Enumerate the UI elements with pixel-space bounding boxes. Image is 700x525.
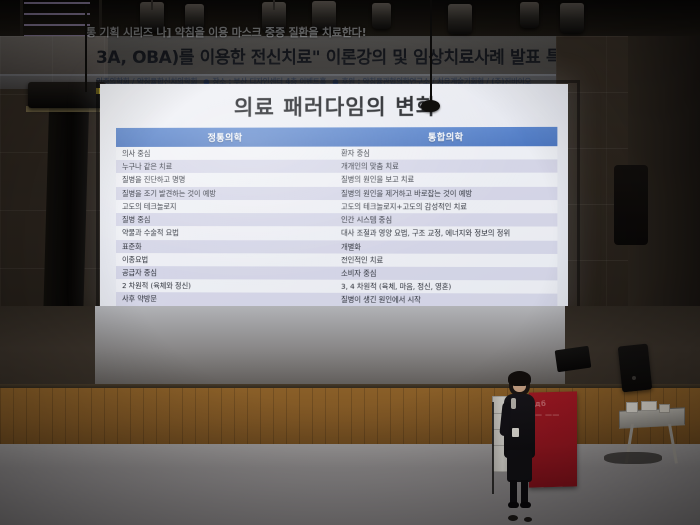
cell-conventional: 질병 중심 xyxy=(116,213,335,226)
presenter-shoe xyxy=(520,502,531,508)
cable-pile xyxy=(604,452,662,464)
cell-integrative: 고도의 테크놀로지+고도의 감성적인 치료 xyxy=(335,200,557,213)
presenter-hair xyxy=(508,371,531,386)
stage-monitor-speaker xyxy=(555,346,592,373)
floor-sheen xyxy=(0,444,700,468)
cell-integrative: 전인적인 치료 xyxy=(335,253,557,267)
hanging-mic-cable xyxy=(430,0,432,104)
presenter-leg xyxy=(510,480,517,504)
cell-integrative: 질병의 원인을 제거하고 바로잡는 것이 예방 xyxy=(335,187,557,200)
cell-conventional: 2 차원적 (육체와 정신) xyxy=(116,279,335,293)
ceiling-cable xyxy=(85,6,87,92)
screen-surface: 의료 패러다임의 변화 정통의학 통합의학 의사 중심환자 중심누구나 같은 치… xyxy=(100,84,568,306)
cell-integrative: 개별화 xyxy=(335,240,557,254)
cell-conventional: 사후 약방문 xyxy=(116,292,335,306)
cell-conventional: 누구나 같은 치료 xyxy=(116,160,335,174)
banner-top-line: 통 기획 시리즈 나] 약침을 이용 마스크 중증 질환을 치료한다! xyxy=(0,24,700,38)
banner-main-title: 3A, OBA)를 이용한 전신치료" 이론강의 및 임상치료사례 발표 특강 xyxy=(0,38,556,72)
hanging-microphone-icon xyxy=(421,100,440,112)
projector xyxy=(28,82,106,108)
table-header-row: 정통의학 통합의학 xyxy=(116,127,557,147)
auditorium-photo: 3A, OBA)를 이용한 전신치료" 이론강의 및 임상치료사례 발표 특강 … xyxy=(0,0,700,525)
presenter-shoe xyxy=(508,502,519,508)
presenter-name-badge xyxy=(512,428,519,437)
table-row: 사후 약방문질병이 생긴 원인에서 시작 xyxy=(116,292,557,306)
table-row: 질병을 조기 발견하는 것이 예방질병의 원인을 제거하고 바로잡는 것이 예방 xyxy=(116,187,557,200)
table-row: 공급자 중심소비자 중심 xyxy=(116,266,557,281)
presentation-slide: 의료 패러다임의 변화 정통의학 통합의학 의사 중심환자 중심누구나 같은 치… xyxy=(100,84,568,306)
cell-conventional: 약물과 수술적 요법 xyxy=(116,226,335,240)
cell-conventional: 질병을 진단하고 명명 xyxy=(116,173,335,186)
handheld-microphone-icon xyxy=(511,398,516,409)
table-row: 의사 중심환자 중심 xyxy=(116,146,557,160)
cell-conventional: 공급자 중심 xyxy=(116,266,335,280)
floor-object xyxy=(508,515,518,521)
cell-integrative: 소비자 중심 xyxy=(335,267,557,281)
table-body: 의사 중심환자 중심누구나 같은 치료개개인의 맞춤 치료질병을 진단하고 명명… xyxy=(116,146,557,306)
table-row: 질병을 진단하고 명명질병의 원인을 보고 치료 xyxy=(116,173,557,187)
presenter-skirt xyxy=(507,450,532,482)
light-yoke xyxy=(151,0,153,10)
cell-integrative: 대사 조절과 영양 요법, 구조 교정, 에너지와 정보의 정위 xyxy=(335,227,557,241)
av-device xyxy=(659,404,670,413)
event-banner: 3A, OBA)를 이용한 전신치료" 이론강의 및 임상치료사례 발표 특강 xyxy=(0,36,556,76)
comparison-table: 정통의학 통합의학 의사 중심환자 중심누구나 같은 치료개개인의 맞춤 치료질… xyxy=(116,127,557,306)
light-yoke xyxy=(273,0,275,10)
cell-integrative: 3, 4 차원적 (육체, 마음, 정신, 영혼) xyxy=(335,280,557,294)
cell-integrative: 환자 중심 xyxy=(335,146,557,160)
presenter-leg xyxy=(521,480,528,504)
table-row: 질병 중심인간 시스템 중심 xyxy=(116,213,557,227)
table-row: 이종요법전인적인 치료 xyxy=(116,253,557,267)
wall-mounted-speaker xyxy=(614,165,648,245)
cell-integrative: 질병이 생긴 원인에서 시작 xyxy=(335,293,557,306)
av-device xyxy=(626,402,638,413)
slide-title: 의료 패러다임의 변화 xyxy=(116,90,557,122)
cell-conventional: 이종요법 xyxy=(116,253,335,267)
av-device xyxy=(641,401,657,411)
stage-wood-paneling xyxy=(0,388,700,444)
floor-object xyxy=(524,517,532,522)
speaker-driver-icon xyxy=(632,376,636,380)
side-speaker xyxy=(618,344,653,393)
cell-conventional: 고도의 테크놀로지 xyxy=(116,200,335,213)
presenter-speaker xyxy=(498,372,544,510)
cell-integrative: 개개인의 맞춤 치료 xyxy=(335,160,557,174)
table-row: 고도의 테크놀로지고도의 테크놀로지+고도의 감성적인 치료 xyxy=(116,200,557,214)
cell-conventional: 질병을 조기 발견하는 것이 예방 xyxy=(116,187,335,200)
left-black-column xyxy=(43,96,90,336)
microphone-stand xyxy=(492,402,494,494)
cell-conventional: 표준화 xyxy=(116,240,335,254)
screen-light-spill xyxy=(95,306,565,384)
cell-integrative: 질병의 원인을 보고 치료 xyxy=(335,173,557,187)
table-row: 누구나 같은 치료개개인의 맞춤 치료 xyxy=(116,160,557,174)
cell-conventional: 의사 중심 xyxy=(116,147,335,161)
column-header-conventional: 정통의학 xyxy=(116,127,335,147)
table-row: 표준화개별화 xyxy=(116,240,557,254)
column-header-integrative: 통합의학 xyxy=(335,127,557,147)
cell-integrative: 인간 시스템 중심 xyxy=(335,213,557,227)
table-row: 약물과 수술적 요법대사 조절과 영양 요법, 구조 교정, 에너지와 정보의 … xyxy=(116,226,557,240)
projection-screen: 의료 패러다임의 변화 정통의학 통합의학 의사 중심환자 중심누구나 같은 치… xyxy=(100,84,568,306)
